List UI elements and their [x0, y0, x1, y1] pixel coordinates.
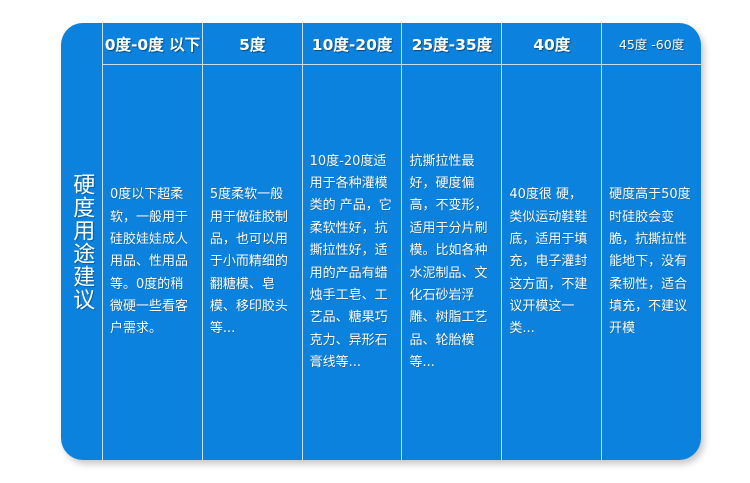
table-column-2: 10度-20度 10度-20度适用于各种灌模类的 产品，它柔软性好，抗撕拉性好，… [303, 23, 403, 460]
column-body-cell-0: 0度以下超柔软，一般用于硅胶娃娃成人用品、性用品等。0度的稍微硬一些看客户需求。 [103, 65, 202, 460]
column-body-cell-5: 硬度高于50度时硅胶会变脆，抗撕拉性能地下，没有柔韧性，适合填充，不建议开模 [602, 65, 701, 460]
table-column-0: 0度-0度 以下 0度以下超柔软，一般用于硅胶娃娃成人用品、性用品等。0度的稍微… [103, 23, 203, 460]
column-body-cell-3: 抗撕拉性最好，硬度偏高，不变形，适用于分片刷模。比如各种水泥制品、文化石砂岩浮雕… [402, 65, 501, 460]
column-header-cell-3: 25度-35度 [402, 23, 501, 65]
column-header-cell-2: 10度-20度 [303, 23, 402, 65]
column-header-cell-5: 45度 -60度 [602, 23, 701, 65]
column-header-cell-1: 5度 [203, 23, 302, 65]
column-body-text-3: 抗撕拉性最好，硬度偏高，不变形，适用于分片刷模。比如各种水泥制品、文化石砂岩浮雕… [409, 151, 494, 375]
column-header-text-2: 10度-20度 [312, 33, 393, 55]
table-columns: 0度-0度 以下 0度以下超柔软，一般用于硅胶娃娃成人用品、性用品等。0度的稍微… [103, 23, 701, 460]
column-header-cell-4: 40度 [502, 23, 601, 65]
column-header-text-5: 45度 -60度 [619, 34, 684, 53]
table-column-5: 45度 -60度 硬度高于50度时硅胶会变脆，抗撕拉性能地下，没有柔韧性，适合填… [602, 23, 701, 460]
table-column-1: 5度 5度柔软一般用于做硅胶制品，也可以用于小而精细的翻糖模、皂模、移印胶头等.… [203, 23, 303, 460]
column-body-cell-2: 10度-20度适用于各种灌模类的 产品，它柔软性好，抗撕拉性好，适用的产品有蜡烛… [303, 65, 402, 460]
row-label-text: 硬度用途建议 [65, 173, 98, 311]
table-column-4: 40度 40度很 硬，类似运动鞋鞋底，适用于填充，电子灌封这方面，不建议开模这一… [502, 23, 602, 460]
column-body-cell-1: 5度柔软一般用于做硅胶制品，也可以用于小而精细的翻糖模、皂模、移印胶头等... [203, 65, 302, 460]
column-body-text-5: 硬度高于50度时硅胶会变脆，抗撕拉性能地下，没有柔韧性，适合填充，不建议开模 [609, 184, 694, 341]
column-body-text-2: 10度-20度适用于各种灌模类的 产品，它柔软性好，抗撕拉性好，适用的产品有蜡烛… [310, 151, 395, 375]
hardness-usage-table: 硬度用途建议 0度-0度 以下 0度以下超柔软，一般用于硅胶娃娃成人用品、性用品… [61, 23, 701, 460]
column-body-text-1: 5度柔软一般用于做硅胶制品，也可以用于小而精细的翻糖模、皂模、移印胶头等... [210, 184, 295, 341]
column-header-text-4: 40度 [533, 33, 570, 55]
table-column-3: 25度-35度 抗撕拉性最好，硬度偏高，不变形，适用于分片刷模。比如各种水泥制品… [402, 23, 502, 460]
column-header-text-0: 0度-0度 以下 [105, 33, 200, 55]
column-body-text-4: 40度很 硬，类似运动鞋鞋底，适用于填充，电子灌封这方面，不建议开模这一类... [509, 184, 594, 341]
column-header-text-3: 25度-35度 [412, 33, 493, 55]
row-label-cell: 硬度用途建议 [61, 23, 103, 460]
column-header-cell-0: 0度-0度 以下 [103, 23, 202, 65]
column-body-cell-4: 40度很 硬，类似运动鞋鞋底，适用于填充，电子灌封这方面，不建议开模这一类... [502, 65, 601, 460]
column-header-text-1: 5度 [239, 33, 265, 55]
column-body-text-0: 0度以下超柔软，一般用于硅胶娃娃成人用品、性用品等。0度的稍微硬一些看客户需求。 [110, 184, 195, 341]
